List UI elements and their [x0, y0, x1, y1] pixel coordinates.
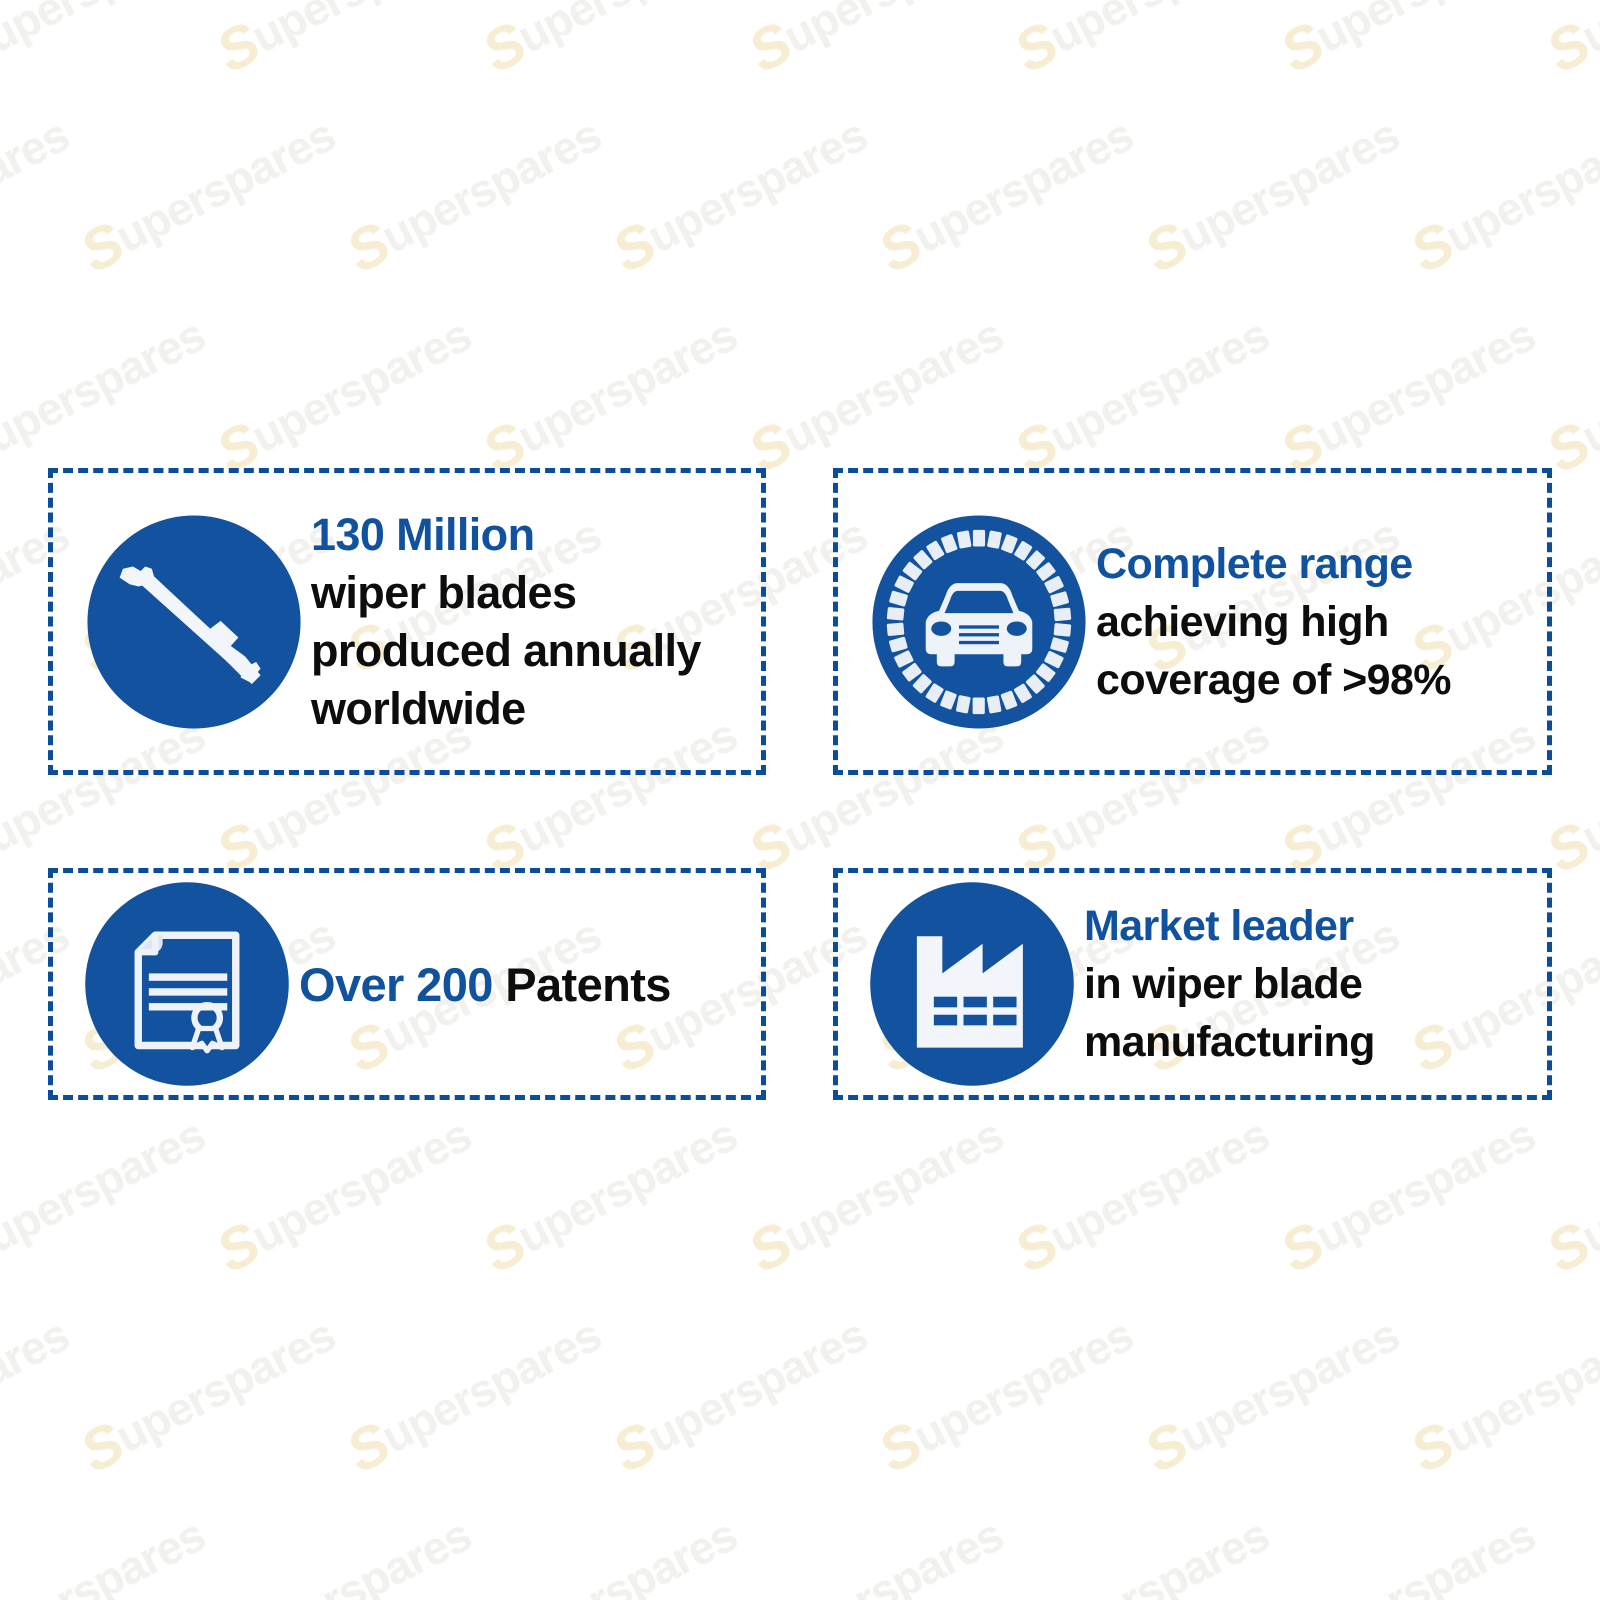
- car-icon-slot: [868, 511, 1090, 733]
- wiper-blade-icon: [83, 511, 305, 733]
- stat-line-2: achieving high: [1096, 593, 1537, 651]
- panel-wiper-blades-produced[interactable]: 130 Million wiper blades produced annual…: [48, 468, 766, 775]
- panel-complete-range-text: Complete range achieving high coverage o…: [1090, 535, 1547, 709]
- watermark-text: Superspares: [1400, 101, 1600, 286]
- watermark-text: Superspares: [206, 1501, 482, 1600]
- stat-line-3: coverage of >98%: [1096, 651, 1537, 709]
- watermark-text: Superspares: [868, 101, 1144, 286]
- watermark-text: Superspares: [1004, 1101, 1280, 1286]
- patents-accent-text: Over 200: [299, 958, 493, 1011]
- watermark-text: Superspares: [738, 1101, 1014, 1286]
- stat-line-2: in wiper blade: [1084, 955, 1537, 1013]
- watermark-text: Superspares: [738, 0, 1014, 86]
- panel-patents-text: Over 200 Patents: [293, 957, 761, 1012]
- stat-line-1: Complete range: [1096, 535, 1537, 593]
- patents-headline: Over 200 Patents: [299, 957, 751, 1012]
- stat-line-3: produced annually: [311, 622, 751, 680]
- panel-wiper-blades-text: 130 Million wiper blades produced annual…: [305, 506, 761, 738]
- watermark-text: Superspares: [1270, 1101, 1546, 1286]
- watermark-text: Superspares: [1536, 301, 1600, 486]
- watermark-text: Superspares: [738, 1501, 1014, 1600]
- watermark-text: Superspares: [0, 1301, 80, 1486]
- watermark-text: Superspares: [70, 101, 346, 286]
- watermark-text: Superspares: [336, 1301, 612, 1486]
- factory-icon: [866, 878, 1078, 1090]
- watermark-text: Superspares: [0, 1101, 216, 1286]
- factory-icon-slot: [866, 878, 1078, 1090]
- watermark-text: Superspares: [1400, 1301, 1600, 1486]
- watermark-text: Superspares: [0, 101, 80, 286]
- watermark-text: Superspares: [472, 1501, 748, 1600]
- watermark-text: Superspares: [472, 1101, 748, 1286]
- watermark-text: Superspares: [206, 301, 482, 486]
- car-in-dashed-circle-icon: [868, 511, 1090, 733]
- patents-plain-text: Patents: [493, 958, 671, 1011]
- panel-market-leader-manufacturing[interactable]: Market leader in wiper blade manufacturi…: [833, 868, 1552, 1100]
- watermark-text: Superspares: [206, 1101, 482, 1286]
- panel-patents[interactable]: Over 200 Patents: [48, 868, 766, 1100]
- watermark-text: Superspares: [1004, 0, 1280, 86]
- watermark-text: Superspares: [206, 0, 482, 86]
- watermark-text: Superspares: [0, 1501, 216, 1600]
- watermark-text: Superspares: [0, 301, 216, 486]
- watermark-text: Superspares: [1270, 301, 1546, 486]
- watermark-text: Superspares: [1536, 1101, 1600, 1286]
- panel-market-leader-text: Market leader in wiper blade manufacturi…: [1078, 897, 1547, 1071]
- feature-panel-grid: 130 Million wiper blades produced annual…: [48, 468, 1552, 1100]
- stat-line-3: manufacturing: [1084, 1013, 1537, 1071]
- stat-line-4: worldwide: [311, 680, 751, 738]
- stat-line-1: Market leader: [1084, 897, 1537, 955]
- watermark-text: Superspares: [1134, 1301, 1410, 1486]
- watermark-text: Superspares: [472, 301, 748, 486]
- watermark-text: Superspares: [738, 301, 1014, 486]
- wiper-blade-icon-slot: [83, 511, 305, 733]
- watermark-text: Superspares: [1004, 301, 1280, 486]
- infographic-page: SupersparesSupersparesSupersparesSupersp…: [0, 0, 1600, 1600]
- watermark-text: Superspares: [602, 1301, 878, 1486]
- watermark-text: Superspares: [1004, 1501, 1280, 1600]
- watermark-text: Superspares: [1134, 101, 1410, 286]
- watermark-text: Superspares: [1270, 1501, 1546, 1600]
- certificate-icon-slot: [81, 878, 293, 1090]
- watermark-text: Superspares: [336, 101, 612, 286]
- watermark-text: Superspares: [1536, 0, 1600, 86]
- watermark-text: Superspares: [0, 0, 216, 86]
- stat-line-2: wiper blades: [311, 564, 751, 622]
- watermark-text: Superspares: [1270, 0, 1546, 86]
- stat-line-1: 130 Million: [311, 506, 751, 564]
- certificate-document-icon: [81, 878, 293, 1090]
- watermark-text: Superspares: [70, 1301, 346, 1486]
- watermark-text: Superspares: [868, 1301, 1144, 1486]
- watermark-text: Superspares: [472, 0, 748, 86]
- watermark-text: Superspares: [602, 101, 878, 286]
- watermark-text: Superspares: [1536, 1501, 1600, 1600]
- panel-complete-range-coverage[interactable]: Complete range achieving high coverage o…: [833, 468, 1552, 775]
